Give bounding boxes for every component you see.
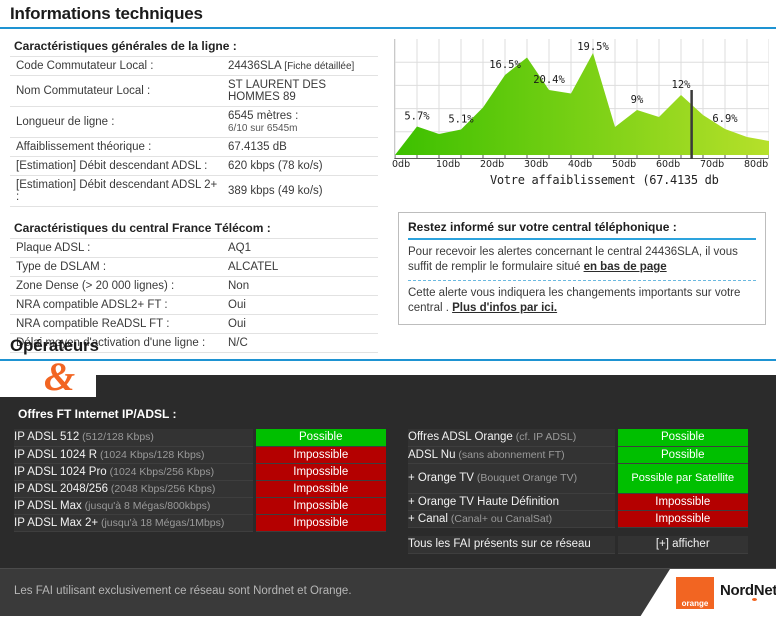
offer-row: + Orange TV (Bouquet Orange TV)Possible …: [408, 463, 748, 493]
operator-tab-strip: &: [0, 361, 776, 397]
x-tick-label: 30db: [524, 159, 548, 170]
x-tick-label: 0db: [392, 159, 410, 170]
row-value: Oui: [222, 315, 378, 334]
chart-annotation: 5.7%: [404, 111, 430, 123]
offer-row: IP ADSL 1024 Pro (1024 Kbps/256 Kbps)Imp…: [14, 463, 386, 480]
attenuation-chart-svg: 5.7%5.1%16.5%20.4%19.5%9%12%6.9%: [395, 39, 769, 159]
row-value: 620 kbps (78 ko/s): [222, 157, 378, 176]
line-specs-heading: Caractéristiques générales de la ligne :: [14, 39, 390, 53]
row-label: [Estimation] Débit descendant ADSL :: [10, 157, 222, 176]
all-isp-row: Tous les FAI présents sur ce réseau[+] a…: [408, 536, 748, 553]
table-row: Zone Dense (> 20 000 lignes) : Non: [10, 277, 378, 296]
offer-detail-text: (jusqu'à 18 Mégas/1Mbps): [98, 517, 224, 529]
table-row: [Estimation] Débit descendant ADSL : 620…: [10, 157, 378, 176]
offer-detail-text: (cf. IP ADSL): [513, 431, 576, 443]
nordnet-logo[interactable]: orange NordNet: [640, 569, 776, 617]
x-tick-label: 40db: [568, 159, 592, 170]
x-tick-label: 80db: [744, 159, 768, 170]
specs-column: Caractéristiques générales de la ligne :…: [0, 29, 390, 353]
chart-annotation: 20.4%: [533, 74, 565, 86]
fiche-detaillee-link[interactable]: [Fiche détaillée]: [284, 61, 354, 72]
status-badge: Possible: [616, 446, 748, 463]
offer-name: Offres ADSL Orange (cf. IP ADSL): [408, 429, 616, 446]
offers-panel-title: Offres FT Internet IP/ADSL :: [18, 407, 762, 421]
x-tick-label: 70db: [700, 159, 724, 170]
status-badge: Impossible: [254, 463, 386, 480]
x-tick-label: 50db: [612, 159, 636, 170]
orange-ampersand-icon[interactable]: &: [44, 357, 75, 397]
offer-row: IP ADSL Max (jusqu'à 8 Mégas/800kbps)Imp…: [14, 497, 386, 514]
offer-name-text: IP ADSL 1024 Pro: [14, 466, 107, 478]
row-value: 67.4135 dB: [222, 138, 378, 157]
plus-dinfos-link[interactable]: Plus d'infos par ici.: [452, 302, 557, 314]
show-all-isp-button[interactable]: [+] afficher: [616, 536, 748, 553]
table-row: Affaiblissement théorique : 67.4135 dB: [10, 138, 378, 157]
table-row: [Estimation] Débit descendant ADSL 2+ : …: [10, 176, 378, 207]
row-value: ALCATEL: [222, 258, 378, 277]
row-label: Plaque ADSL :: [10, 239, 222, 258]
operators-section: Opérateurs & Offres FT Internet IP/ADSL …: [0, 332, 776, 616]
orange-logo-icon: orange: [676, 577, 714, 609]
chart-area: [395, 53, 769, 155]
row-label: NRA compatible ADSL2+ FT :: [10, 296, 222, 315]
status-badge: Possible: [254, 429, 386, 446]
page-title: Informations techniques: [0, 0, 776, 27]
dashed-divider: [408, 280, 756, 281]
x-tick-label: 60db: [656, 159, 680, 170]
chart-annotation: 9%: [631, 94, 644, 106]
offer-row: ADSL Nu (sans abonnement FT)Possible: [408, 446, 748, 463]
table-row: Plaque ADSL : AQ1: [10, 239, 378, 258]
right-offers-column: Offres ADSL Orange (cf. IP ADSL)Possible…: [408, 429, 748, 554]
offer-name-text: Offres ADSL Orange: [408, 431, 513, 443]
offers-columns: IP ADSL 512 (512/128 Kbps)PossibleIP ADS…: [14, 429, 762, 554]
status-badge: Impossible: [254, 480, 386, 497]
offer-name: IP ADSL 2048/256 (2048 Kbps/256 Kbps): [14, 480, 254, 497]
orange-offers-table: Offres ADSL Orange (cf. IP ADSL)Possible…: [408, 429, 748, 554]
x-tick-label: 10db: [436, 159, 460, 170]
offer-name: IP ADSL 1024 Pro (1024 Kbps/256 Kbps): [14, 463, 254, 480]
chart-caption: Votre affaiblissement (67.4135 db: [490, 173, 776, 187]
row-value: AQ1: [222, 239, 378, 258]
technical-content: Caractéristiques générales de la ligne :…: [0, 29, 776, 353]
ft-offers-table: IP ADSL 512 (512/128 Kbps)PossibleIP ADS…: [14, 429, 386, 532]
offer-detail-text: (sans abonnement FT): [456, 449, 565, 461]
table-row: NRA compatible ADSL2+ FT : Oui: [10, 296, 378, 315]
technical-info-page: Informations techniques Caractéristiques…: [0, 0, 776, 620]
offer-row: + Canal (Canal+ ou CanalSat)Impossible: [408, 510, 748, 527]
offer-detail-text: (1024 Kbps/256 Kbps): [107, 466, 214, 478]
offer-row: IP ADSL Max 2+ (jusqu'à 18 Mégas/1Mbps)I…: [14, 514, 386, 531]
left-offers-column: IP ADSL 512 (512/128 Kbps)PossibleIP ADS…: [14, 429, 386, 554]
chart-x-axis: 0db10db20db30db40db50db60db70db80db: [394, 159, 768, 172]
offer-name: IP ADSL 1024 R (1024 Kbps/128 Kbps): [14, 446, 254, 463]
status-badge: Impossible: [254, 497, 386, 514]
row-label: Nom Commutateur Local :: [10, 76, 222, 107]
section-header-technical: Informations techniques: [0, 0, 776, 29]
row-label: Zone Dense (> 20 000 lignes) :: [10, 277, 222, 296]
alert-paragraph-2: Cette alerte vous indiquera les changeme…: [408, 286, 756, 316]
value-subtext: 6/10 sur 6545m: [228, 123, 298, 134]
chart-column: 5.7%5.1%16.5%20.4%19.5%9%12%6.9% 0db10db…: [390, 29, 776, 353]
offer-detail-text: (Bouquet Orange TV): [474, 472, 577, 484]
row-value: 24436SLA [Fiche détaillée]: [222, 57, 378, 76]
page-footer: Les FAI utilisant exclusivement ce résea…: [0, 568, 776, 616]
attenuation-chart: 5.7%5.1%16.5%20.4%19.5%9%12%6.9%: [394, 39, 768, 159]
offer-row: IP ADSL 2048/256 (2048 Kbps/256 Kbps)Imp…: [14, 480, 386, 497]
logo-angle-shape: [640, 569, 670, 617]
offer-name-text: + Orange TV: [408, 472, 474, 484]
offer-name: IP ADSL Max (jusqu'à 8 Mégas/800kbps): [14, 497, 254, 514]
offer-name: + Canal (Canal+ ou CanalSat): [408, 510, 616, 527]
status-badge: Impossible: [254, 446, 386, 463]
row-label: Code Commutateur Local :: [10, 57, 222, 76]
offer-row: + Orange TV Haute DéfinitionImpossible: [408, 493, 748, 510]
spacer: [10, 207, 390, 221]
offer-detail-text: (jusqu'à 8 Mégas/800kbps): [82, 500, 211, 512]
row-label: Type de DSLAM :: [10, 258, 222, 277]
offer-name-text: IP ADSL 512: [14, 431, 79, 443]
chart-annotation: 19.5%: [577, 41, 609, 53]
value-text: 6545 mètres :: [228, 110, 298, 122]
alert-title: Restez informé sur votre central télépho…: [408, 220, 756, 240]
tab-dark-bar: [0, 375, 776, 397]
table-row: Code Commutateur Local : 24436SLA [Fiche…: [10, 57, 378, 76]
row-value: 389 kbps (49 ko/s): [222, 176, 378, 207]
offer-detail-text: (512/128 Kbps): [79, 431, 154, 443]
offer-name: ADSL Nu (sans abonnement FT): [408, 446, 616, 463]
offer-name: IP ADSL Max 2+ (jusqu'à 18 Mégas/1Mbps): [14, 514, 254, 531]
all-isp-label: Tous les FAI présents sur ce réseau: [408, 536, 616, 553]
offer-row: IP ADSL 512 (512/128 Kbps)Possible: [14, 429, 386, 446]
value-text: 24436SLA: [228, 60, 281, 72]
row-label: [Estimation] Débit descendant ADSL 2+ :: [10, 176, 222, 207]
alert-paragraph-1: Pour recevoir les alertes concernant le …: [408, 245, 756, 275]
table-row: Type de DSLAM : ALCATEL: [10, 258, 378, 277]
offer-row: IP ADSL 1024 R (1024 Kbps/128 Kbps)Impos…: [14, 446, 386, 463]
offer-row: Offres ADSL Orange (cf. IP ADSL)Possible: [408, 429, 748, 446]
row-value: 6545 mètres :6/10 sur 6545m: [222, 107, 378, 138]
row-value: Non: [222, 277, 378, 296]
table-row: Nom Commutateur Local : ST LAURENT DES H…: [10, 76, 378, 107]
tab-angle-shape: [96, 375, 114, 397]
x-tick-label: 20db: [480, 159, 504, 170]
chart-annotation: 5.1%: [448, 114, 474, 126]
offer-name-text: + Orange TV Haute Définition: [408, 496, 559, 508]
status-badge: Impossible: [254, 514, 386, 531]
offer-name-text: IP ADSL 2048/256: [14, 483, 108, 495]
status-badge: Possible par Satellite: [616, 463, 748, 493]
status-badge: Impossible: [616, 493, 748, 510]
status-badge: Impossible: [616, 510, 748, 527]
offer-name-text: IP ADSL 1024 R: [14, 449, 97, 461]
operators-title: Opérateurs: [0, 332, 776, 359]
offer-name: + Orange TV Haute Définition: [408, 493, 616, 510]
table-row: NRA compatible ReADSL FT : Oui: [10, 315, 378, 334]
central-specs-heading: Caractéristiques du central France Téléc…: [14, 221, 390, 235]
alert-text-1: Pour recevoir les alertes concernant le …: [408, 246, 738, 273]
offer-name-text: + Canal: [408, 513, 448, 525]
operators-panel: Offres FT Internet IP/ADSL : IP ADSL 512…: [0, 397, 776, 560]
en-bas-de-page-link[interactable]: en bas de page: [584, 261, 667, 273]
row-label: Affaiblissement théorique :: [10, 138, 222, 157]
offer-name-text: IP ADSL Max 2+: [14, 517, 98, 529]
offer-detail-text: (1024 Kbps/128 Kbps): [97, 449, 204, 461]
panel-footer-spacer: [0, 560, 776, 568]
offer-name-text: ADSL Nu: [408, 449, 456, 461]
offer-detail-text: (Canal+ ou CanalSat): [448, 513, 552, 525]
line-specs-table: Code Commutateur Local : 24436SLA [Fiche…: [10, 56, 378, 207]
section-header-operators: Opérateurs: [0, 332, 776, 361]
offer-name: IP ADSL 512 (512/128 Kbps): [14, 429, 254, 446]
row-label: NRA compatible ReADSL FT :: [10, 315, 222, 334]
table-row: Longueur de ligne : 6545 mètres :6/10 su…: [10, 107, 378, 138]
offer-name: + Orange TV (Bouquet Orange TV): [408, 463, 616, 493]
chart-annotation: 12%: [672, 79, 692, 91]
row-label: Longueur de ligne :: [10, 107, 222, 138]
status-badge: Possible: [616, 429, 748, 446]
row-value: Oui: [222, 296, 378, 315]
row-spacer: [408, 527, 748, 536]
orange-logo-label: orange: [676, 599, 714, 608]
chart-annotation: 16.5%: [489, 59, 521, 71]
nordnet-dot-icon: [752, 598, 757, 601]
nordnet-wordmark: NordNet: [720, 582, 776, 599]
chart-annotation: 6.9%: [712, 113, 738, 125]
row-value: ST LAURENT DES HOMMES 89: [222, 76, 378, 107]
offer-detail-text: (2048 Kbps/256 Kbps): [108, 483, 215, 495]
alert-info-box: Restez informé sur votre central télépho…: [398, 212, 766, 325]
offer-name-text: IP ADSL Max: [14, 500, 82, 512]
